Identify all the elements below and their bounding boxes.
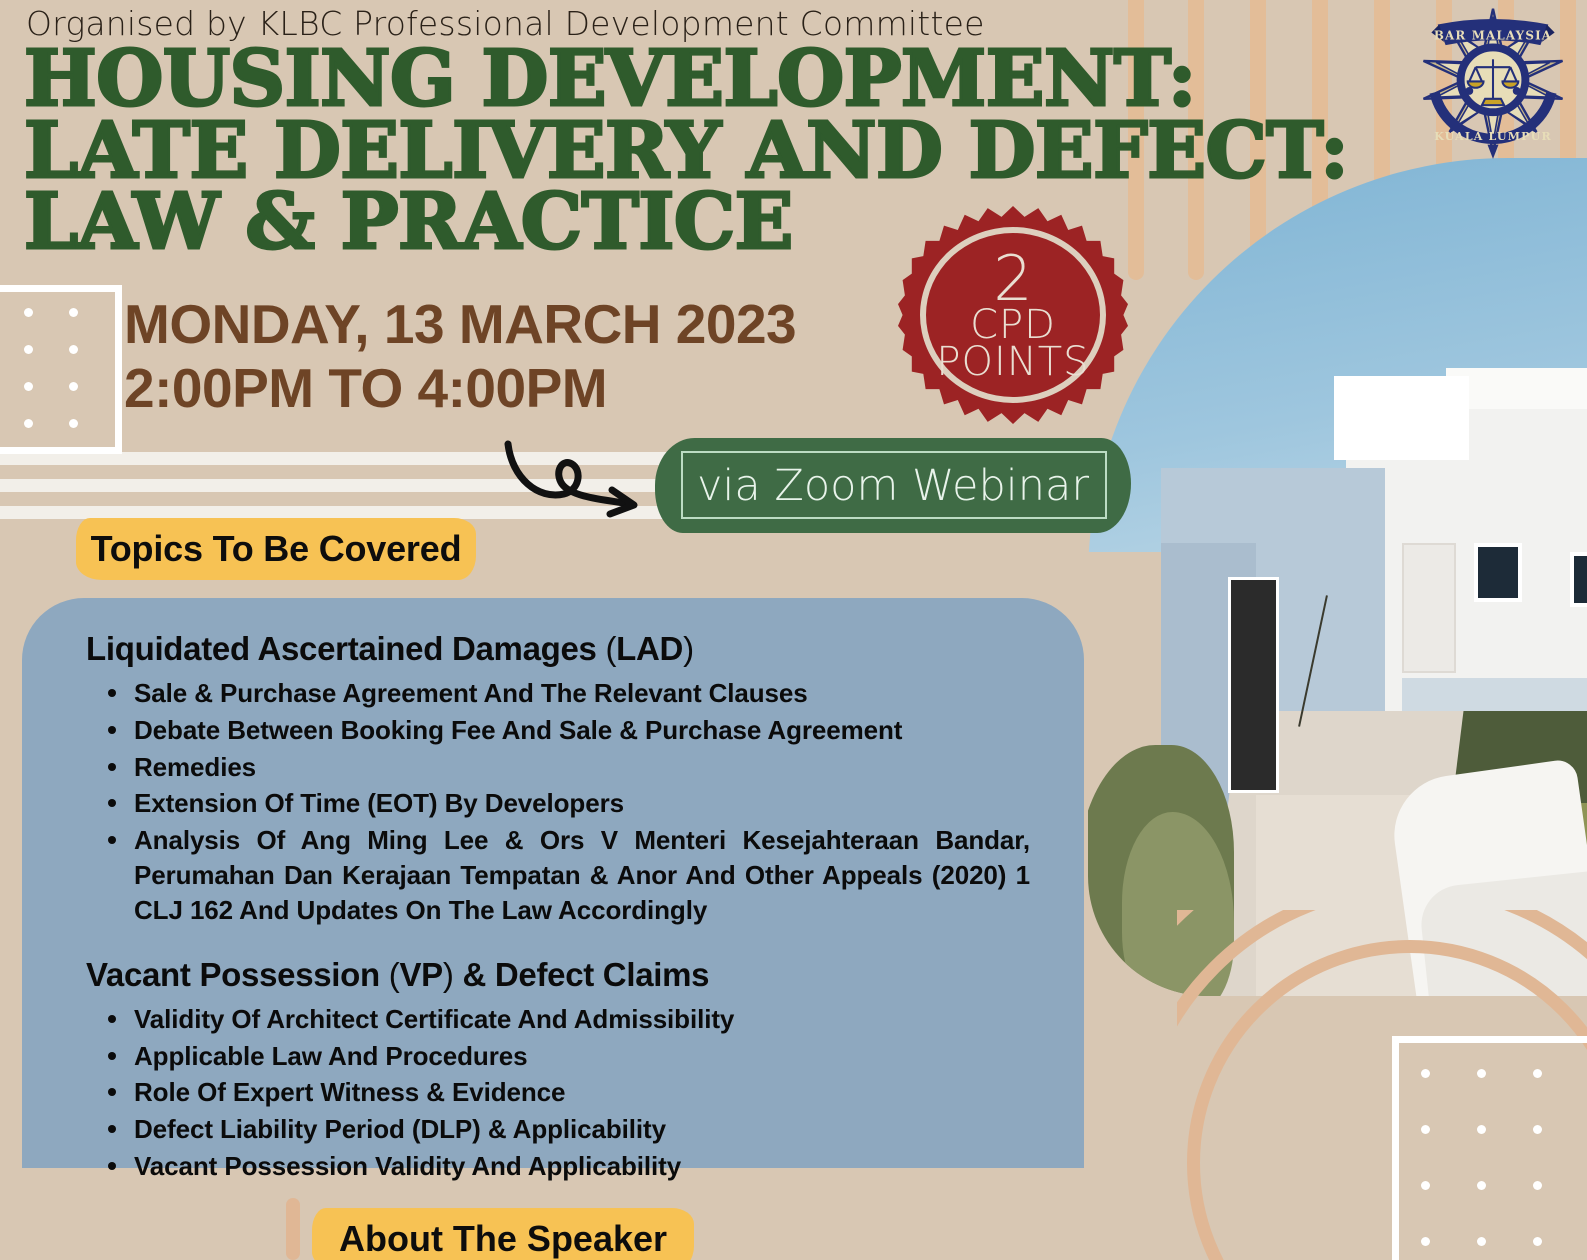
decorative-dot xyxy=(69,419,78,428)
speaker-banner: About The Speaker xyxy=(312,1208,694,1260)
topic-section-heading-lad: Liquidated Ascertained Damages (LAD) xyxy=(86,630,1040,668)
topic-list-lad: Sale & Purchase Agreement And The Releva… xyxy=(94,676,1040,928)
topics-banner-label: Topics To Be Covered xyxy=(76,518,476,580)
topics-panel: Liquidated Ascertained Damages (LAD) Sal… xyxy=(22,598,1084,1168)
paren-close: ) xyxy=(443,956,454,993)
topic-section-heading-vp: Vacant Possession (VP) & Defect Claims xyxy=(86,956,1040,994)
decorative-dot xyxy=(1421,1125,1430,1134)
curly-arrow-icon xyxy=(498,438,648,518)
decorative-dot xyxy=(1533,1069,1542,1078)
title-line-1: HOUSING DEVELOPMENT: xyxy=(24,44,1364,116)
decorative-dot xyxy=(69,308,78,317)
list-item: Remedies xyxy=(130,750,1040,785)
speaker-banner-label: About The Speaker xyxy=(312,1208,694,1260)
platform-badge-label: via Zoom Webinar xyxy=(655,438,1131,533)
decorative-dot xyxy=(1533,1125,1542,1134)
dotted-box-decoration-bottom-right xyxy=(1392,1036,1587,1260)
paren-open: ( xyxy=(389,956,400,993)
decorative-dot xyxy=(1421,1181,1430,1190)
cpd-label-line2: POINTS xyxy=(936,344,1089,381)
decorative-dot xyxy=(69,382,78,391)
paren-open: ( xyxy=(605,630,616,667)
cpd-points-badge: 2 CPD POINTS xyxy=(898,206,1128,424)
decorative-dot xyxy=(1477,1069,1486,1078)
list-item: Debate Between Booking Fee And Sale & Pu… xyxy=(130,713,1040,748)
list-item: Validity Of Architect Certificate And Ad… xyxy=(130,1002,1040,1037)
decorative-dot xyxy=(1477,1181,1486,1190)
decorative-dot xyxy=(1533,1181,1542,1190)
title-line-3: LAW & PRACTICE xyxy=(24,187,1364,259)
decorative-dot xyxy=(24,382,33,391)
event-time: 2:00PM TO 4:00PM xyxy=(124,356,796,420)
bar-malaysia-kl-logo: BAR MALAYSIA KUALA LUMPUR xyxy=(1412,4,1574,162)
list-item: Extension Of Time (EOT) By Developers xyxy=(130,786,1040,821)
decorative-dot xyxy=(24,308,33,317)
decorative-dot xyxy=(1477,1125,1486,1134)
list-item: Analysis Of Ang Ming Lee & Ors V Menteri… xyxy=(130,823,1040,927)
cpd-points-number: 2 xyxy=(993,250,1032,307)
house-photo xyxy=(1088,158,1587,996)
cpd-label-line1: CPD xyxy=(970,307,1056,344)
decorative-dot xyxy=(1421,1237,1430,1246)
svg-text:KUALA LUMPUR: KUALA LUMPUR xyxy=(1434,130,1552,143)
poster-canvas: BAR MALAYSIA KUALA LUMPUR Organised by K… xyxy=(0,0,1587,1260)
topic-heading-tail: & Defect Claims xyxy=(454,956,710,993)
topic-heading-abbrev: LAD xyxy=(616,630,683,667)
topic-heading-abbrev: VP xyxy=(399,956,442,993)
topics-banner: Topics To Be Covered xyxy=(76,518,476,580)
topic-list-vp: Validity Of Architect Certificate And Ad… xyxy=(94,1002,1040,1184)
list-item: Vacant Possession Validity And Applicabi… xyxy=(130,1149,1040,1184)
decorative-dot xyxy=(69,345,78,354)
dotted-box-decoration-top-left xyxy=(0,285,122,454)
list-item: Sale & Purchase Agreement And The Releva… xyxy=(130,676,1040,711)
topic-heading-text: Vacant Possession xyxy=(86,956,389,993)
decorative-dot xyxy=(1421,1069,1430,1078)
decorative-dot xyxy=(24,419,33,428)
paren-close: ) xyxy=(683,630,694,667)
decorative-dot xyxy=(1477,1237,1486,1246)
decorative-dot xyxy=(24,345,33,354)
event-datetime: MONDAY, 13 MARCH 2023 2:00PM TO 4:00PM xyxy=(124,292,796,421)
platform-badge: via Zoom Webinar xyxy=(655,438,1131,533)
tan-accent-bar xyxy=(286,1198,300,1260)
event-date: MONDAY, 13 MARCH 2023 xyxy=(124,292,796,356)
page-title: HOUSING DEVELOPMENT: LATE DELIVERY AND D… xyxy=(24,44,1364,259)
decorative-dot xyxy=(1533,1237,1542,1246)
list-item: Applicable Law And Procedures xyxy=(130,1039,1040,1074)
svg-text:BAR MALAYSIA: BAR MALAYSIA xyxy=(1434,29,1552,43)
list-item: Defect Liability Period (DLP) & Applicab… xyxy=(130,1112,1040,1147)
topic-heading-text: Liquidated Ascertained Damages xyxy=(86,630,605,667)
list-item: Role Of Expert Witness & Evidence xyxy=(130,1075,1040,1110)
